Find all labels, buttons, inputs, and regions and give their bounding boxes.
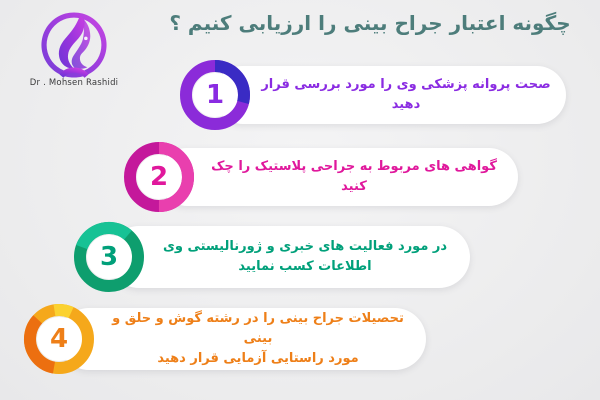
donut-ring-icon-4 bbox=[22, 302, 96, 376]
donut-ring-icon-2 bbox=[122, 140, 196, 214]
step-badge-4[interactable]: 4 bbox=[22, 302, 96, 376]
step-text-1: صحت پروانه پزشکی وی را مورد بررسی قرار د… bbox=[214, 75, 566, 115]
step-badge-1[interactable]: 1 bbox=[178, 58, 252, 132]
step-pill-4[interactable]: تحصیلات جراح بینی را در رشته گوش و حلق و… bbox=[58, 308, 426, 370]
donut-ring-icon-1 bbox=[178, 58, 252, 132]
step-badge-3[interactable]: 3 bbox=[72, 220, 146, 294]
step-pill-1[interactable]: صحت پروانه پزشکی وی را مورد بررسی قرار د… bbox=[214, 66, 566, 124]
step-pill-3[interactable]: در مورد فعالیت های خبری و ژورنالیستی وی … bbox=[108, 226, 470, 288]
step-pill-2[interactable]: گواهی های مربوط به جراحی پلاستیک را چک ک… bbox=[158, 148, 518, 206]
step-text-2: گواهی های مربوط به جراحی پلاستیک را چک ک… bbox=[158, 157, 518, 197]
woman-face-profile-circle-logo-icon bbox=[37, 8, 111, 82]
donut-ring-icon-3 bbox=[72, 220, 146, 294]
step-text-3: در مورد فعالیت های خبری و ژورنالیستی وی … bbox=[117, 237, 461, 277]
brand-name: Dr . Mohsen Rashidi bbox=[18, 78, 130, 88]
step-badge-2[interactable]: 2 bbox=[122, 140, 196, 214]
step-text-4: تحصیلات جراح بینی را در رشته گوش و حلق و… bbox=[58, 309, 426, 369]
brand-logo: Dr . Mohsen Rashidi bbox=[18, 8, 130, 100]
infographic-canvas: Dr . Mohsen Rashidi چگونه اعتبار جراح بی… bbox=[0, 0, 600, 400]
page-title: چگونه اعتبار جراح بینی را ارزیابی کنیم ؟ bbox=[150, 8, 590, 38]
